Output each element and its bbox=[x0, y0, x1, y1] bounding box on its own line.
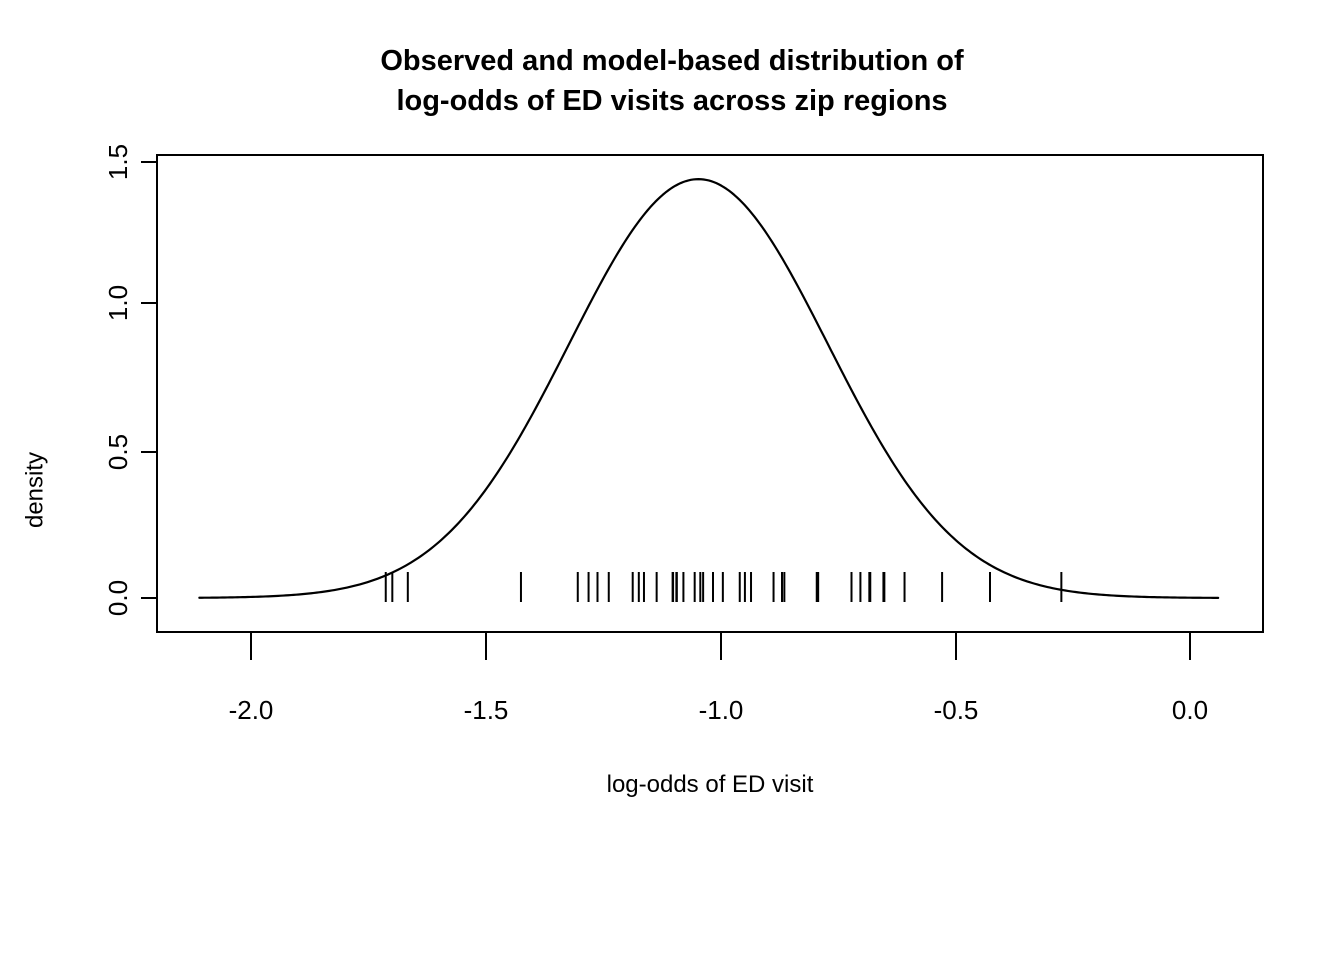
y-tick-label-3: 1.5 bbox=[103, 144, 133, 180]
y-axis-title: density bbox=[22, 452, 49, 528]
y-tick-label-2: 1.0 bbox=[103, 285, 133, 321]
x-tick-label-4: 0.0 bbox=[1172, 695, 1208, 725]
chart-title-line-1: Observed and model-based distribution of bbox=[380, 45, 964, 77]
figure-root: Observed and model-based distribution of… bbox=[0, 0, 1344, 960]
plot-background bbox=[0, 0, 1344, 960]
y-tick-label-0: 0.0 bbox=[103, 580, 133, 616]
chart-title-line-2: log-odds of ED visits across zip regions bbox=[396, 85, 947, 117]
x-tick-label-0: -2.0 bbox=[229, 695, 274, 725]
x-tick-label-2: -1.0 bbox=[699, 695, 744, 725]
y-tick-label-1: 0.5 bbox=[103, 434, 133, 470]
x-axis-title: log-odds of ED visit bbox=[607, 771, 814, 798]
x-tick-label-3: -0.5 bbox=[934, 695, 979, 725]
density-plot: Observed and model-based distribution of… bbox=[0, 0, 1344, 960]
x-tick-label-1: -1.5 bbox=[464, 695, 509, 725]
